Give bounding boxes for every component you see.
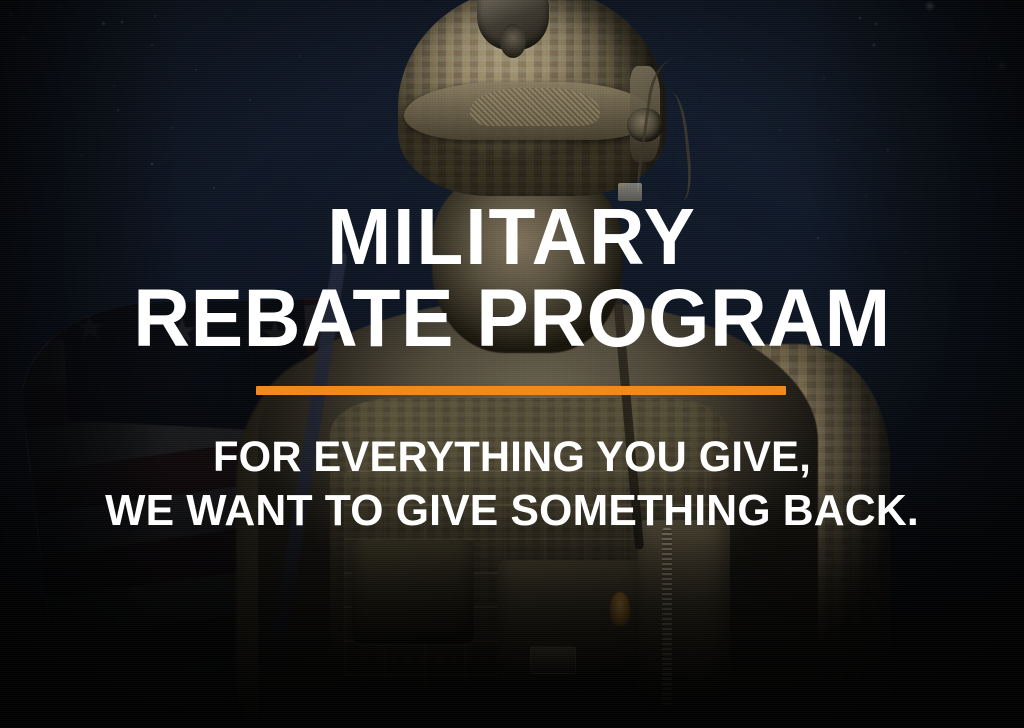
- headline-line-2: REBATE PROGRAM: [20, 278, 1003, 360]
- headline-line-1: MILITARY: [20, 196, 1003, 278]
- vest-buckle: [530, 646, 576, 674]
- accent-divider: [256, 386, 786, 395]
- soldier-figure: [0, 0, 1024, 728]
- pouch-zipper: [662, 528, 672, 706]
- vest-pouch-left: [352, 540, 474, 644]
- subheadline-line-1: FOR EVERYTHING YOU GIVE,: [15, 430, 1008, 484]
- nvg-pivot-icon: [500, 24, 526, 58]
- page-subtitle: FOR EVERYTHING YOU GIVE, WE WANT TO GIVE…: [15, 430, 1008, 538]
- page-title: MILITARY REBATE PROGRAM: [20, 196, 1003, 360]
- vest-amber-reflector: [610, 592, 630, 626]
- vest-radio-pouch-right: [638, 520, 730, 710]
- military-rebate-banner: ★ ★ ★ MILI: [0, 0, 1024, 728]
- subheadline-line-2: WE WANT TO GIVE SOMETHING BACK.: [15, 484, 1008, 538]
- helmet-velcro-patch: [470, 88, 600, 126]
